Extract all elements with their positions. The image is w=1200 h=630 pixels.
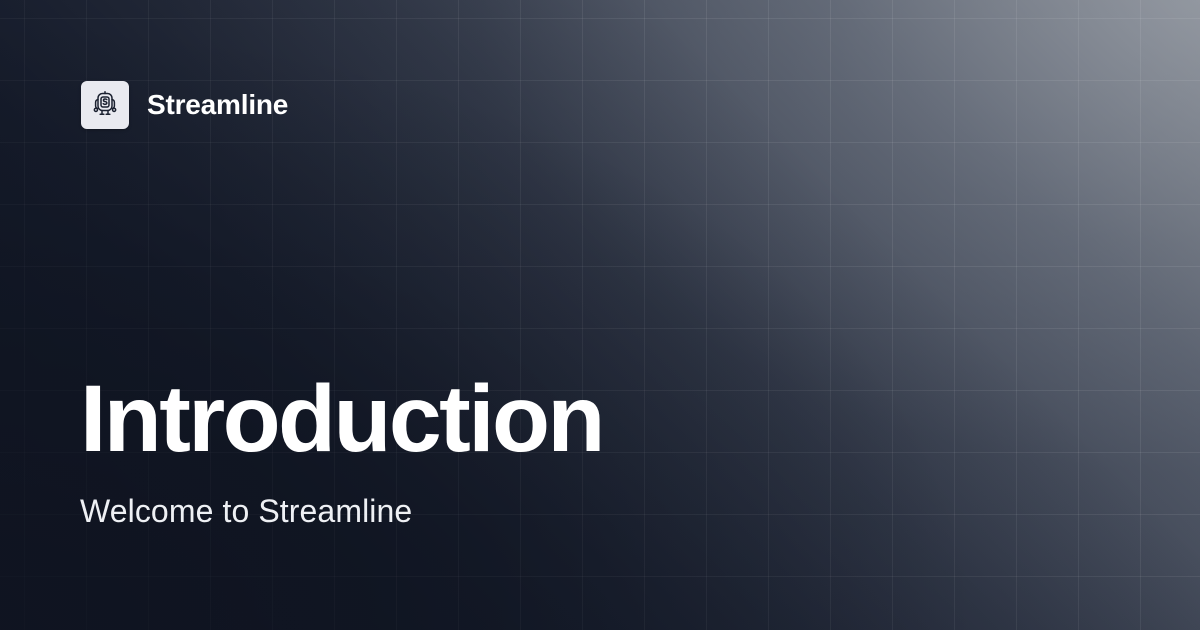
page-subtitle: Welcome to Streamline: [80, 491, 1120, 531]
card-content: Streamline Introduction Welcome to Strea…: [0, 0, 1200, 630]
og-banner-card: Streamline Introduction Welcome to Strea…: [0, 0, 1200, 630]
brand-name: Streamline: [147, 91, 288, 119]
streamline-robot-s-icon: [89, 89, 121, 121]
page-title: Introduction: [80, 372, 1120, 467]
brand-logo-badge: [81, 81, 129, 129]
hero-text-block: Introduction Welcome to Streamline: [80, 372, 1120, 531]
brand-lockup: Streamline: [81, 81, 288, 129]
